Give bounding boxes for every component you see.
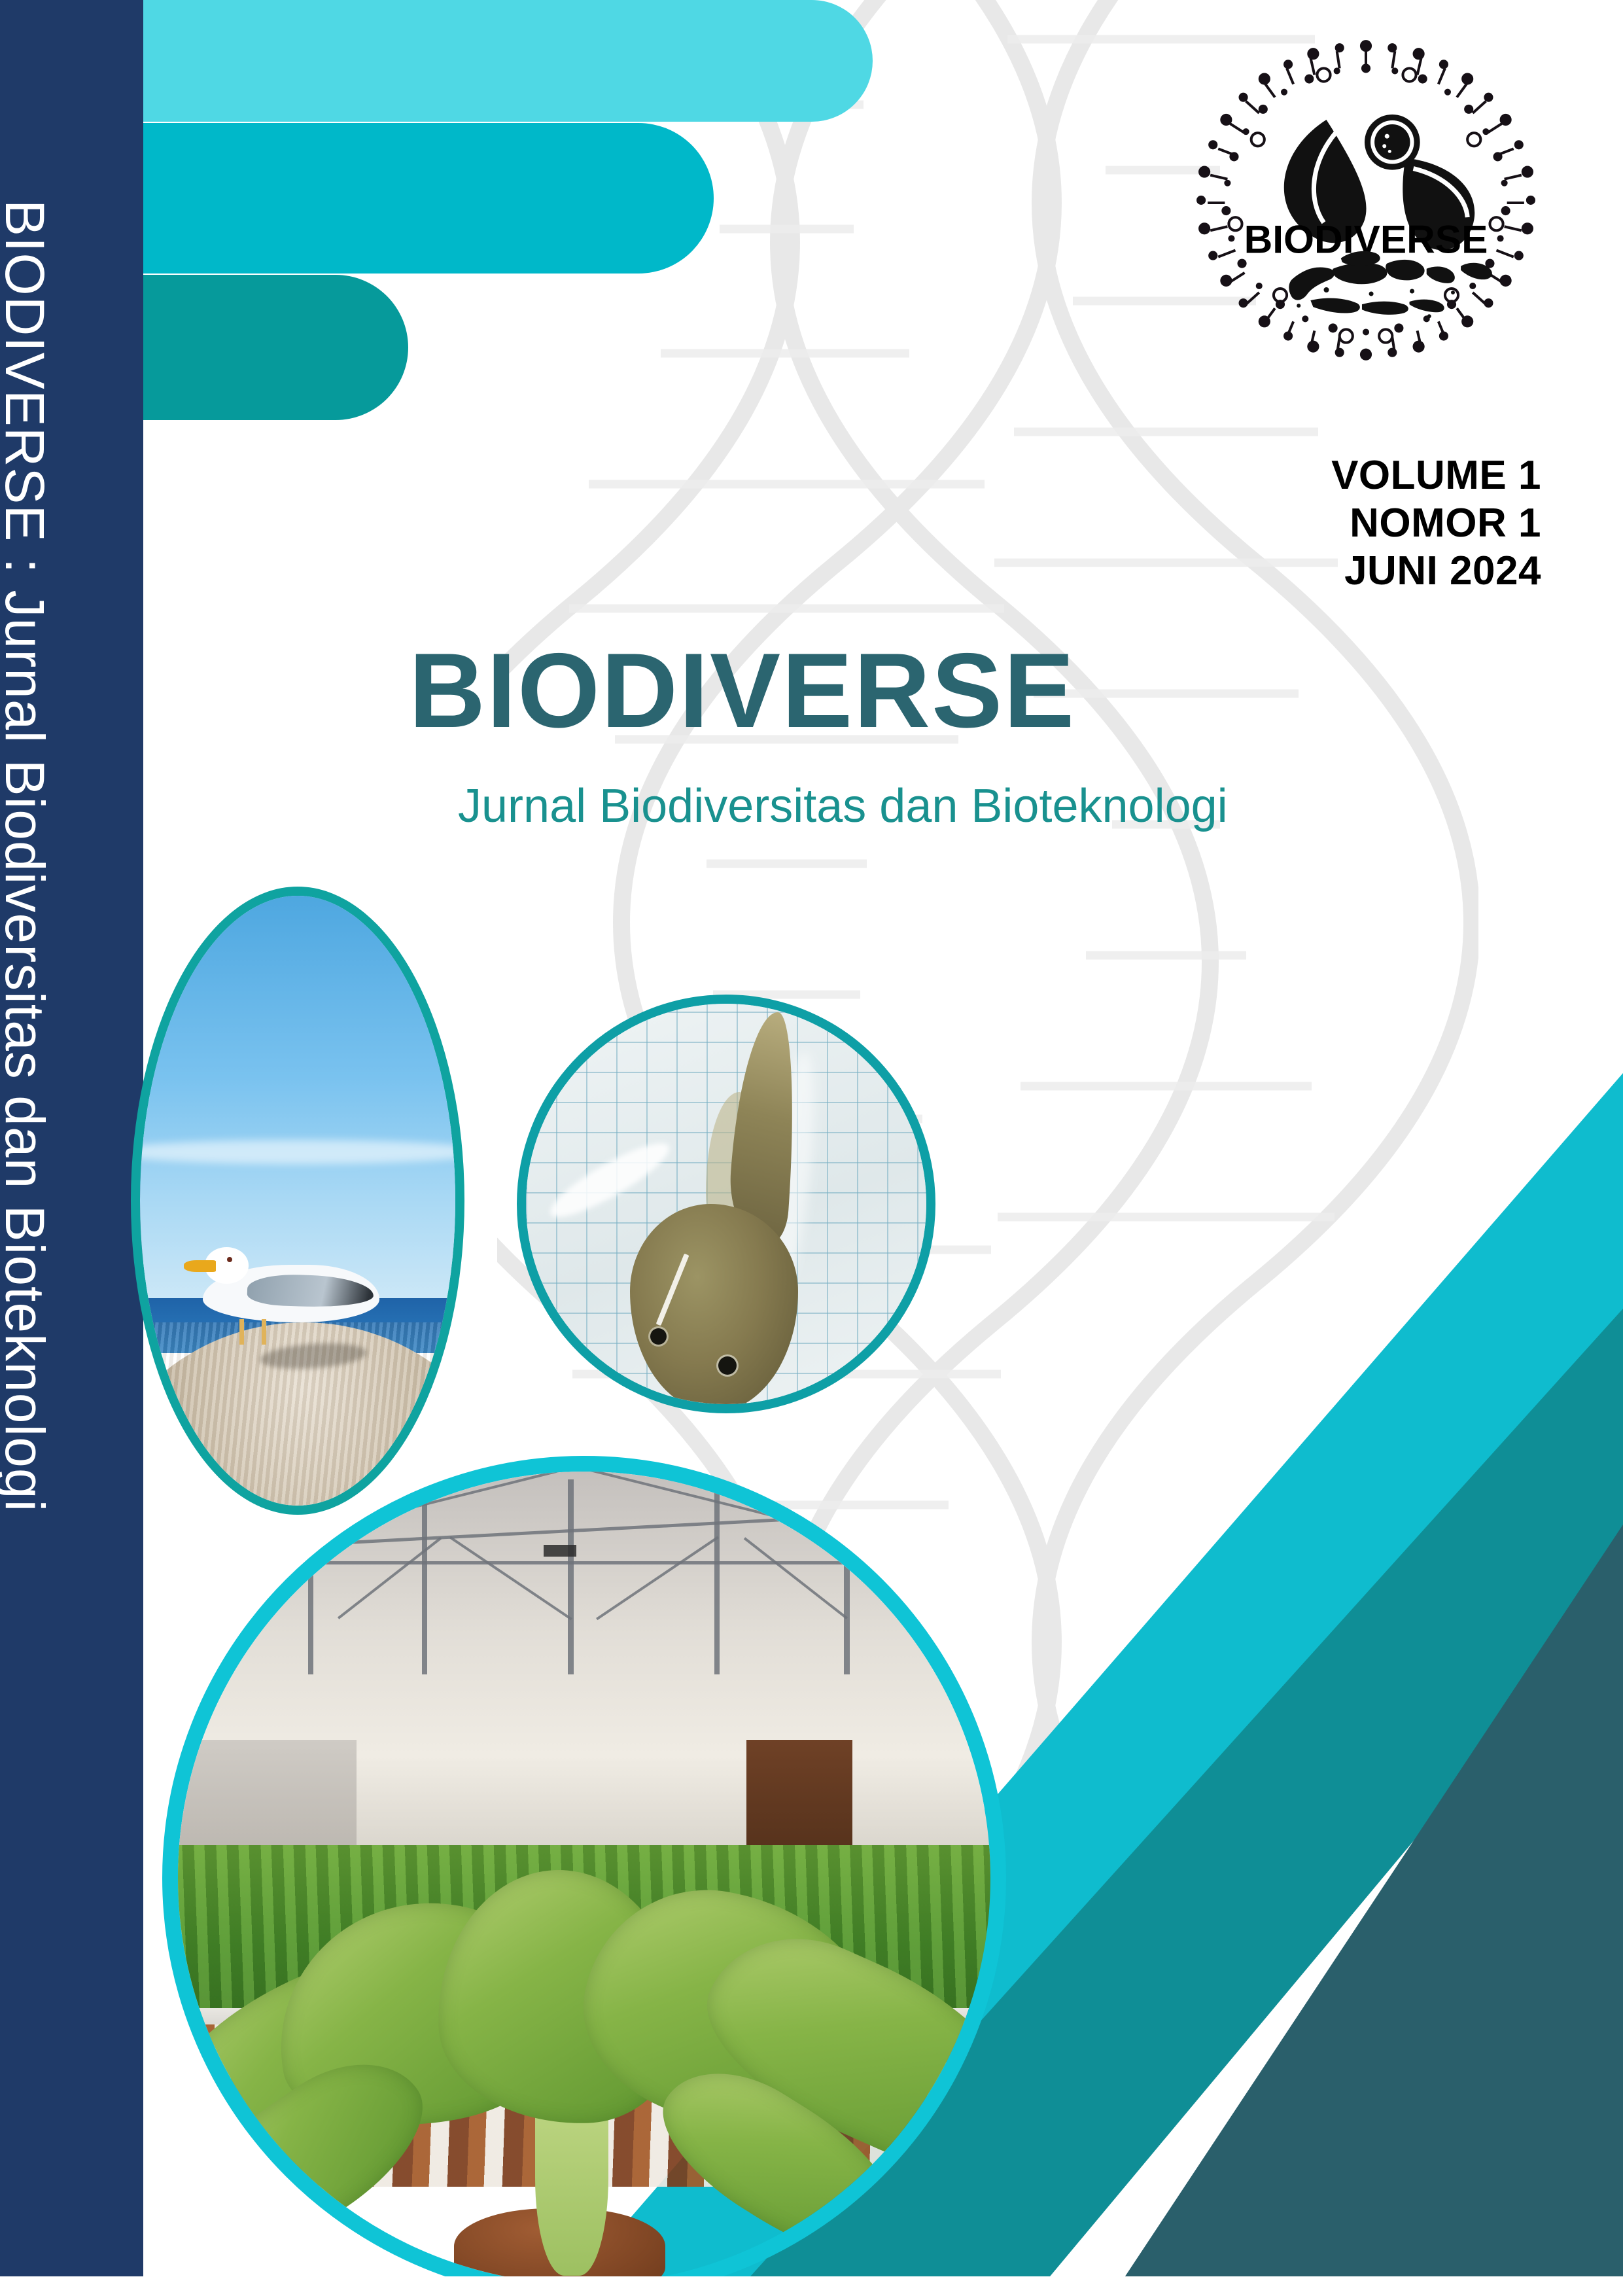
- seagull-scene: [140, 896, 455, 1506]
- sky: [140, 896, 455, 1298]
- bird-eye: [227, 1257, 232, 1262]
- deco-bar-teal: [143, 275, 408, 420]
- photo-seagull-on-rock: [131, 887, 464, 1515]
- issue-info: VOLUME 1 NOMOR 1 JUNI 2024: [1083, 451, 1541, 595]
- page-bottom-margin: [0, 2276, 1623, 2296]
- pakchoy-plant: [178, 1862, 990, 2284]
- page-subtitle: Jurnal Biodiversitas dan Bioteknologi: [458, 783, 1228, 830]
- journal-cover: BIODIVERSE : Jurnal Biodiversitas dan Bi…: [0, 0, 1623, 2296]
- photo-tadpole-on-grid: [517, 995, 935, 1413]
- bird-beak: [184, 1260, 215, 1272]
- bird-leg: [239, 1319, 244, 1345]
- issue-date: JUNI 2024: [1083, 547, 1541, 595]
- page-title: BIODIVERSE: [409, 638, 1075, 744]
- spine-title: BIODIVERSE : Jurnal Biodiversitas dan Bi…: [0, 200, 52, 1512]
- tadpole-eye: [718, 1356, 737, 1375]
- cloud: [131, 1140, 464, 1164]
- biodiverse-logo: BIODIVERSE: [1195, 34, 1537, 377]
- spine: BIODIVERSE : Jurnal Biodiversitas dan Bi…: [0, 0, 143, 2276]
- deco-bar-light-cyan: [143, 0, 873, 122]
- deco-bar-cyan: [143, 123, 714, 274]
- bird-leg: [262, 1319, 266, 1345]
- issue-number: NOMOR 1: [1083, 499, 1541, 547]
- greenhouse-frame: [178, 1472, 990, 1878]
- issue-volume: VOLUME 1: [1083, 451, 1541, 499]
- photo-hydroponic-greenhouse: [162, 1456, 1006, 2296]
